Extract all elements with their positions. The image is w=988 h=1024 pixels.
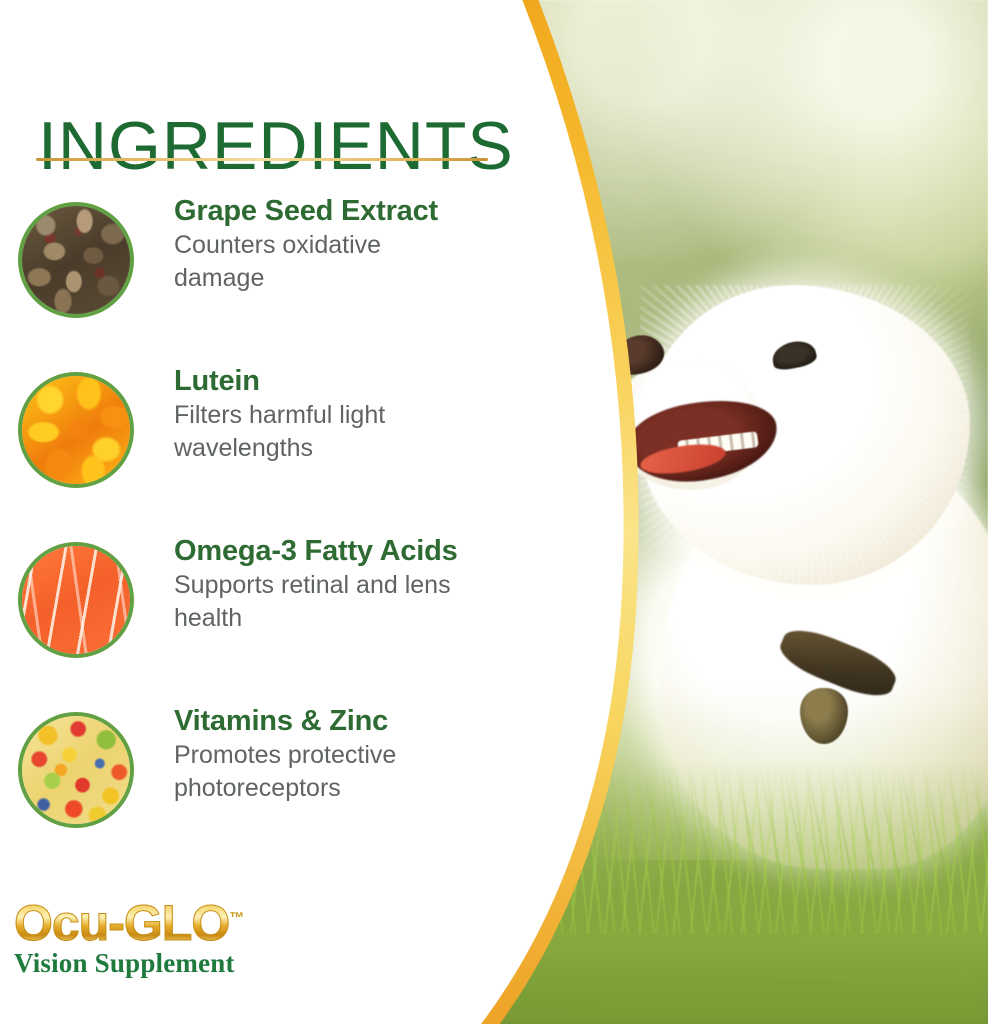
brand-logo: Ocu-GLO™ Vision Supplement: [14, 898, 314, 977]
ingredient-description: Counters oxidative damage: [174, 229, 474, 294]
ingredient-name: Omega-3 Fatty Acids: [174, 536, 520, 567]
ingredient-text-block: Grape Seed Extract Counters oxidative da…: [174, 196, 520, 294]
dog-photo-panel: [480, 0, 988, 1024]
ingredient-description: Supports retinal and lens health: [174, 569, 474, 634]
logo-wordmark: Ocu-GLO™: [14, 898, 243, 948]
ingredients-infographic: INGREDIENTS Grape Seed Extract Counters …: [0, 0, 988, 1024]
left-content-panel: INGREDIENTS Grape Seed Extract Counters …: [0, 0, 530, 1024]
logo-tagline: Vision Supplement: [14, 950, 314, 977]
fruit-salad-photo: [22, 716, 130, 824]
ingredients-list: Grape Seed Extract Counters oxidative da…: [0, 196, 530, 876]
salmon-fillet-photo: [22, 546, 130, 654]
ingredient-description: Promotes protective photoreceptors: [174, 739, 474, 804]
list-item: Vitamins & Zinc Promotes protective phot…: [0, 706, 530, 876]
grass-foreground-blur: [480, 874, 988, 1024]
ingredient-thumbnail-grape-seed: [18, 202, 134, 318]
logo-wordmark-text: Ocu-GLO: [14, 895, 229, 951]
trademark-symbol: ™: [229, 909, 243, 926]
ingredient-text-block: Lutein Filters harmful light wavelengths: [174, 366, 520, 464]
list-item: Lutein Filters harmful light wavelengths: [0, 366, 530, 536]
list-item: Grape Seed Extract Counters oxidative da…: [0, 196, 530, 366]
title-gold-rule: [36, 158, 488, 161]
page-title: INGREDIENTS: [38, 112, 514, 180]
list-item: Omega-3 Fatty Acids Supports retinal and…: [0, 536, 530, 706]
marigold-petals-photo: [22, 376, 130, 484]
ingredient-name: Lutein: [174, 366, 520, 397]
ingredient-name: Grape Seed Extract: [174, 196, 520, 227]
ingredient-name: Vitamins & Zinc: [174, 706, 520, 737]
ingredient-thumbnail-omega-3: [18, 542, 134, 658]
grape-seeds-photo: [22, 206, 130, 314]
ingredient-thumbnail-vitamins-zinc: [18, 712, 134, 828]
ingredient-thumbnail-lutein: [18, 372, 134, 488]
ingredient-text-block: Omega-3 Fatty Acids Supports retinal and…: [174, 536, 520, 634]
ingredient-text-block: Vitamins & Zinc Promotes protective phot…: [174, 706, 520, 804]
ingredient-description: Filters harmful light wavelengths: [174, 399, 474, 464]
